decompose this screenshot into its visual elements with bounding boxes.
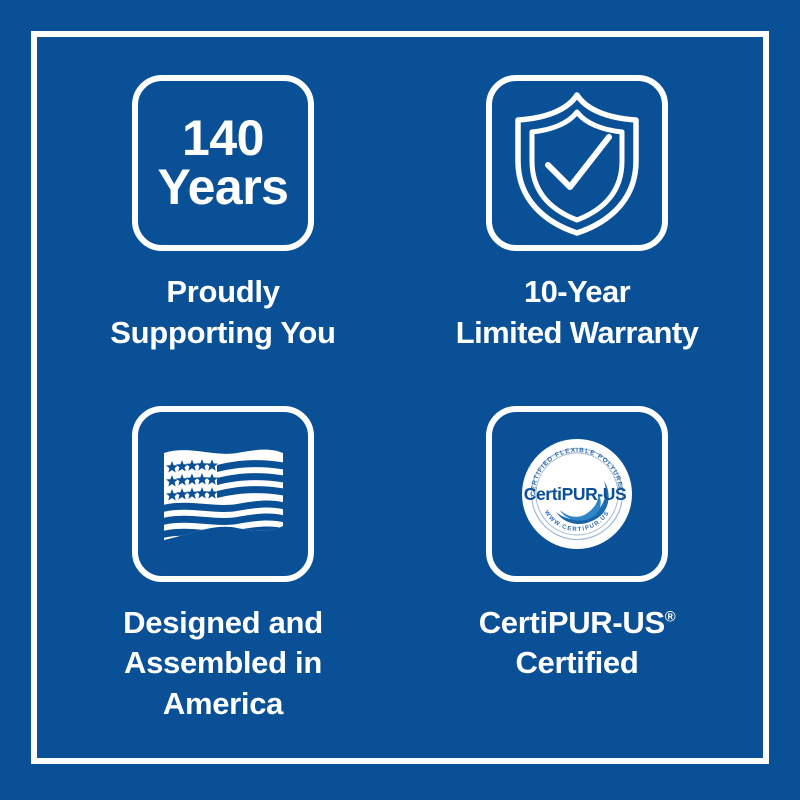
trust-badge-panel: 140 Years Proudly Supporting You 10-Year… [0,0,800,800]
usa-flag-icon [161,444,286,544]
warranty-icon-box [486,75,668,251]
badge-years: 140 Years Proudly Supporting You [46,46,400,398]
certipur-caption-main: CertiPUR-US [479,605,665,640]
registered-trademark-icon: ® [665,609,675,625]
years-caption: Proudly Supporting You [110,272,335,354]
flag-icon-box [132,406,314,582]
badge-made-in-america: Designed and Assembled in America [46,398,400,750]
certipur-icon-box: CONTAINS CERTIFIED FLEXIBLE POLYURETHANE… [486,406,668,582]
years-word: Years [158,163,289,213]
years-number: 140 [158,114,289,164]
140-years-icon: 140 Years [158,114,289,213]
made-in-america-caption: Designed and Assembled in America [123,603,323,726]
warranty-caption: 10-Year Limited Warranty [456,272,698,354]
years-icon-box: 140 Years [132,75,314,251]
badge-grid: 140 Years Proudly Supporting You 10-Year… [46,46,754,749]
certipur-seal-registered-mark: ® [618,485,623,492]
certipur-seal-wordmark: CertiPUR-US [524,484,627,504]
badge-certipur: CONTAINS CERTIFIED FLEXIBLE POLYURETHANE… [400,398,754,750]
certipur-us-seal-icon: CONTAINS CERTIFIED FLEXIBLE POLYURETHANE… [518,435,636,553]
certipur-caption-sub: Certified [515,645,638,680]
badge-warranty: 10-Year Limited Warranty [400,46,754,398]
shield-check-icon [508,89,646,237]
certipur-caption: CertiPUR-US® Certified [479,603,676,685]
